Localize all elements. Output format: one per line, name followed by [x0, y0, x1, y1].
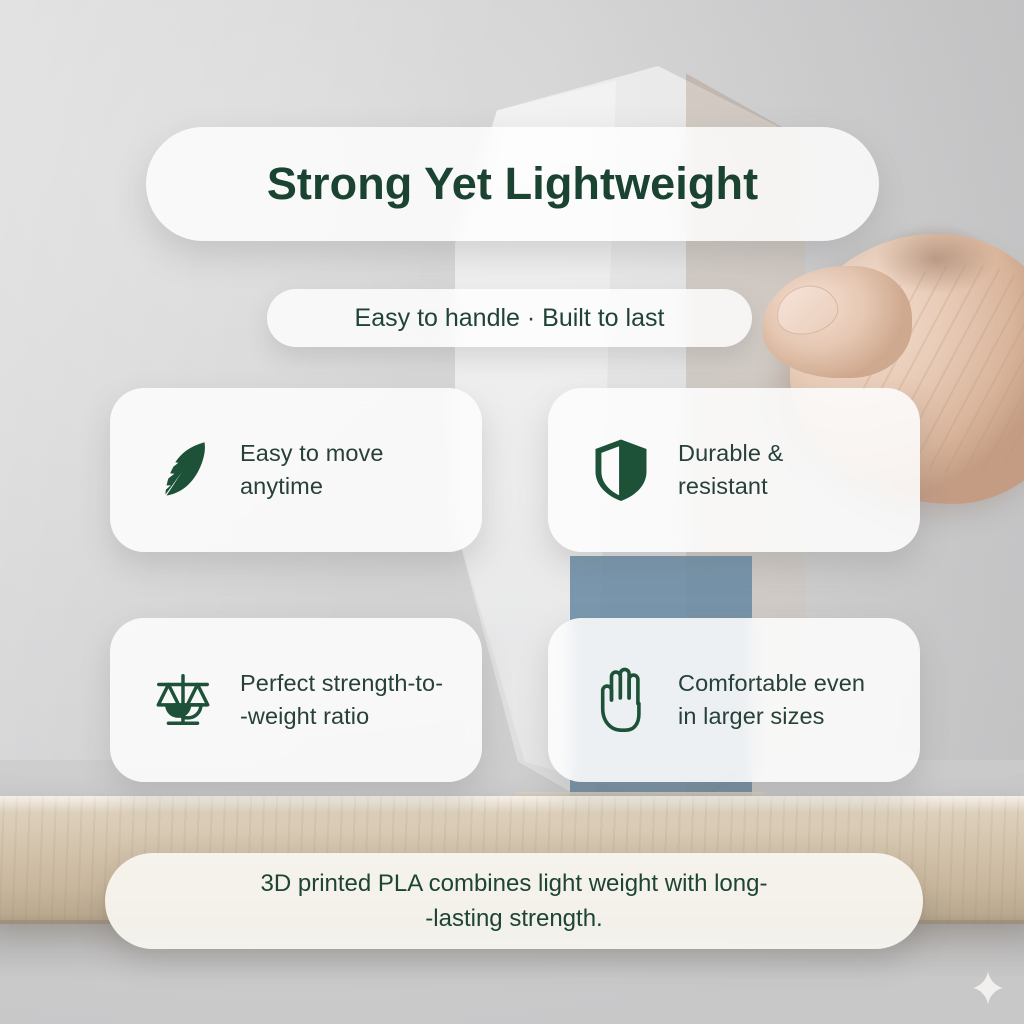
feature-card-easy-to-move[interactable]: Easy to move anytime [110, 388, 482, 552]
hand-icon [590, 667, 652, 733]
title-banner: Strong Yet Lightweight [146, 127, 879, 241]
feature-label-line1: Comfortable even [678, 670, 865, 696]
feature-card-label: Durable & resistant [678, 437, 783, 503]
footer-text: 3D printed PLA combines light weight wit… [261, 866, 768, 936]
feature-label-line2: resistant [678, 473, 768, 499]
subtitle-banner: Easy to handle · Built to last [267, 289, 752, 347]
balance-scale-icon [152, 667, 214, 733]
feature-card-label: Easy to move anytime [240, 437, 384, 503]
page-subtitle: Easy to handle · Built to last [355, 304, 665, 333]
feature-card-label: Perfect strength-to- -weight ratio [240, 667, 443, 733]
feature-label-line1: Perfect strength-to- [240, 670, 443, 696]
feature-card-strength-to-weight[interactable]: Perfect strength-to- -weight ratio [110, 618, 482, 782]
feather-icon [152, 437, 214, 503]
page-title: Strong Yet Lightweight [267, 158, 758, 210]
footer-text-line1: 3D printed PLA combines light weight wit… [261, 870, 768, 897]
feature-card-comfortable[interactable]: Comfortable even in larger sizes [548, 618, 920, 782]
feature-label-line1: Easy to move [240, 440, 384, 466]
feature-label-line2: -weight ratio [240, 703, 369, 729]
shelf-top-edge [0, 796, 1024, 812]
promo-graphic: Strong Yet Lightweight Easy to handle · … [0, 0, 1024, 1024]
feature-card-label: Comfortable even in larger sizes [678, 667, 865, 733]
shield-icon [590, 437, 652, 503]
footer-text-line2: -lasting strength. [425, 905, 602, 932]
feature-label-line1: Durable & [678, 440, 783, 466]
feature-card-durable[interactable]: Durable & resistant [548, 388, 920, 552]
feature-label-line2: in larger sizes [678, 703, 824, 729]
footer-banner: 3D printed PLA combines light weight wit… [105, 853, 923, 949]
sparkle-icon [969, 969, 1007, 1007]
feature-label-line2: anytime [240, 473, 323, 499]
feature-card-grid: Easy to move anytime Durable & resistant [110, 388, 920, 782]
